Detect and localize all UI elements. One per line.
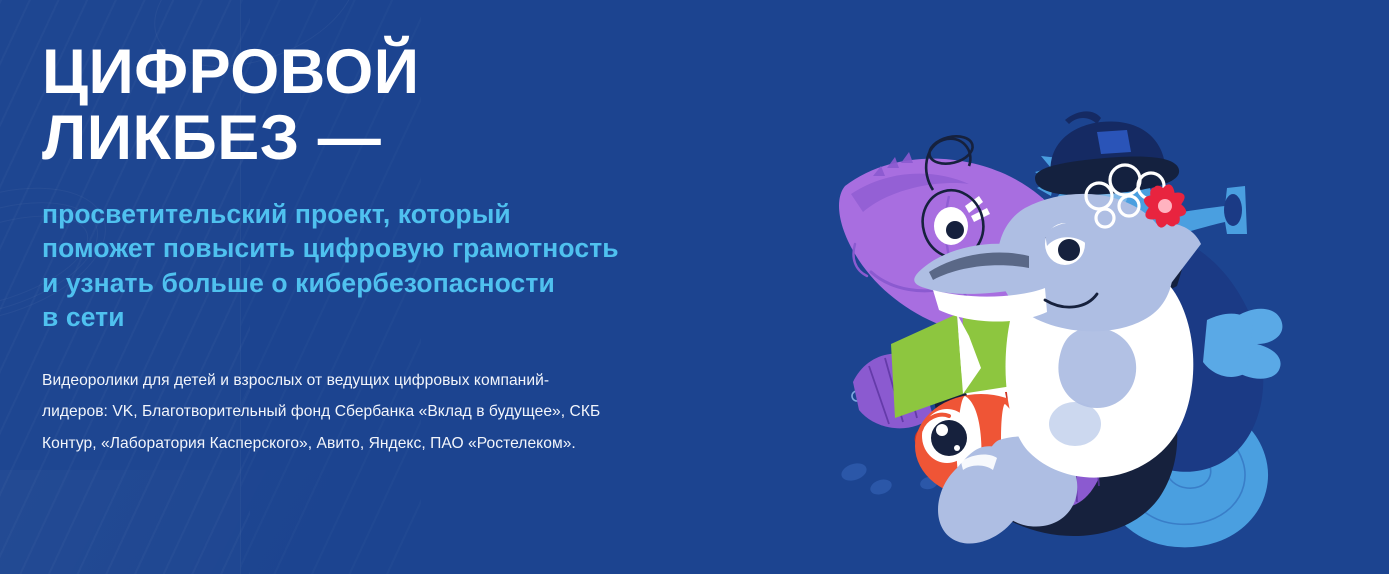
clownfish-pupil xyxy=(931,420,967,456)
hero-body-text: Видеоролики для детей и взрослых от веду… xyxy=(42,365,782,460)
cap-badge xyxy=(1097,130,1131,154)
dolphin-dress-detail xyxy=(1049,402,1101,446)
dolphin-pupil xyxy=(1058,239,1080,261)
page-title: ЦИФРОВОЙ ЛИКБЕЗ — xyxy=(42,40,782,171)
background-wedge xyxy=(0,470,540,574)
hero-subtitle: просветительский проект, который поможет… xyxy=(42,197,782,335)
seahorse-snout-opening xyxy=(1224,194,1242,226)
fish-pupil xyxy=(946,221,964,239)
dolphin-flipper xyxy=(1058,328,1136,408)
underwater-characters-illustration xyxy=(829,0,1389,574)
hero-banner: ЦИФРОВОЙ ЛИКБЕЗ — просветительский проек… xyxy=(0,0,1389,574)
hero-copy: ЦИФРОВОЙ ЛИКБЕЗ — просветительский проек… xyxy=(42,40,782,460)
seahorse-police-cap xyxy=(1035,111,1179,195)
